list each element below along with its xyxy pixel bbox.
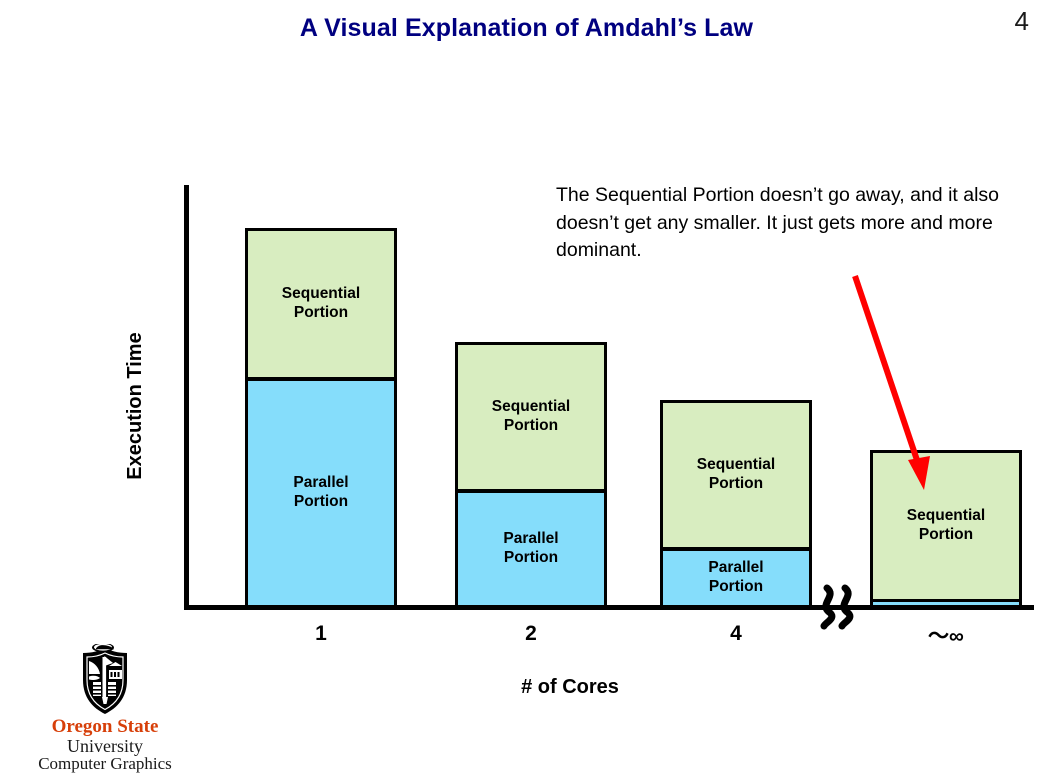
bar-3-sequential-label: Sequential Portion — [697, 456, 775, 494]
bar-1-sequential-segment: Sequential Portion — [245, 228, 397, 380]
bar-4-sequential-label: Sequential Portion — [907, 507, 985, 545]
bar-2-parallel-label: Parallel Portion — [503, 530, 558, 568]
x-tick-label-2: 2 — [455, 622, 607, 646]
osu-computer-graphics-logo: Oregon State University Computer Graphic… — [20, 644, 190, 780]
x-axis-label: # of Cores — [420, 676, 720, 699]
x-tick-label-infinity: ～∞ — [870, 620, 1022, 650]
osu-beaver-shield-icon — [69, 644, 141, 716]
bar-4-parallel-segment — [870, 600, 1022, 608]
callout-annotation-text: The Sequential Portion doesn’t go away, … — [556, 182, 1001, 265]
x-tick-label-4: 4 — [660, 622, 812, 646]
axis-break-squiggle-icon — [818, 584, 864, 630]
bar-3-sequential-segment: Sequential Portion — [660, 400, 812, 550]
bar-3-parallel-segment: Parallel Portion — [660, 548, 812, 608]
logo-computer-graphics-text: Computer Graphics — [20, 755, 190, 773]
bar-2-parallel-segment: Parallel Portion — [455, 490, 607, 608]
bar-2-sequential-segment: Sequential Portion — [455, 342, 607, 492]
bar-2-sequential-label: Sequential Portion — [492, 398, 570, 436]
red-pointer-arrow-icon — [836, 264, 946, 500]
bar-1-sequential-label: Sequential Portion — [282, 285, 360, 323]
bar-3-parallel-label: Parallel Portion — [708, 559, 763, 597]
y-axis-line — [184, 185, 189, 610]
y-axis-label: Execution Time — [124, 266, 147, 546]
x-tick-label-1: 1 — [245, 622, 397, 646]
bar-1-parallel-label: Parallel Portion — [293, 474, 348, 512]
bar-1-parallel-segment: Parallel Portion — [245, 378, 397, 608]
logo-university-text: University — [20, 737, 190, 756]
logo-oregon-state-text: Oregon State — [20, 717, 190, 737]
